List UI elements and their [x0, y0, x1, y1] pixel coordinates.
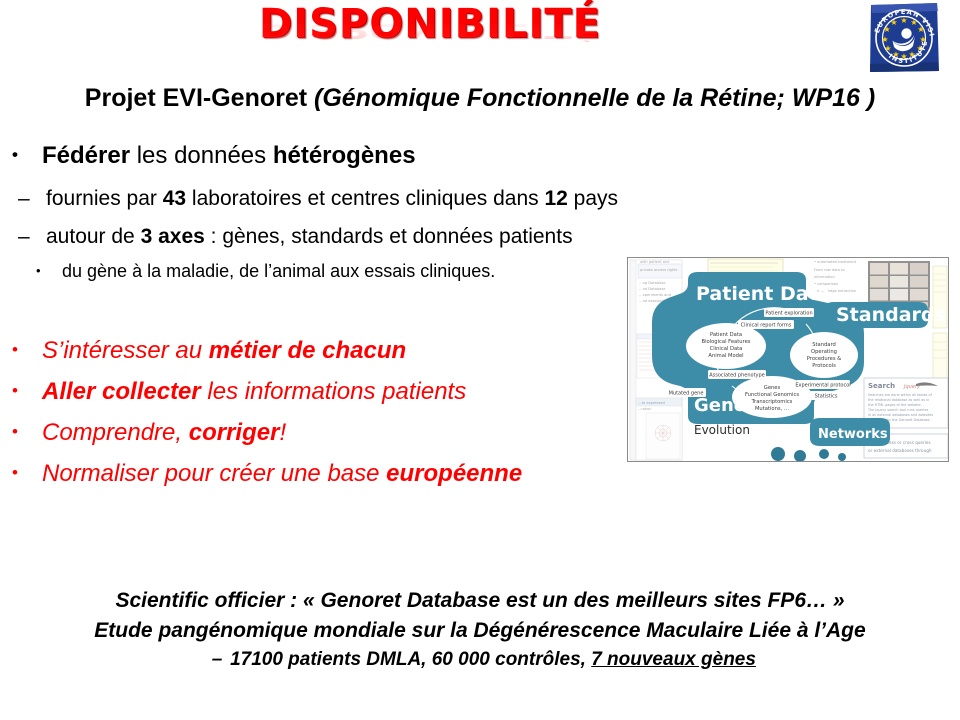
autour-seg2: : gènes, standards et données patients: [205, 225, 573, 248]
red-1-bold: métier de chacun: [209, 337, 406, 364]
svg-text:Functional Genomics: Functional Genomics: [745, 392, 799, 398]
bullet-marker-icon: •: [12, 371, 42, 411]
red-4-bold: européenne: [386, 460, 522, 487]
svg-text:Transcriptomics: Transcriptomics: [751, 399, 793, 405]
bullet-fournies: –fournies par 43 laboratoires et centres…: [18, 186, 618, 212]
svg-text:…ng Database: …ng Database: [639, 281, 666, 285]
dash-marker-icon: –: [18, 224, 46, 250]
svg-text:…te expressed: …te expressed: [638, 401, 665, 405]
footer-line-3-underlined: 7 nouveaux gènes: [591, 649, 756, 670]
bullet-federer-normal: les données: [130, 142, 273, 169]
fournies-seg0: fournies par: [46, 187, 163, 210]
svg-text:★: ★: [884, 44, 891, 53]
red-2-bold: Aller collecter: [42, 378, 201, 405]
bullet-marker-icon: •: [12, 412, 42, 452]
red-3-post: !: [279, 419, 286, 446]
european-vision-institute-logo: ★ ★ ★ ★ ★ ★ ★ ★ ★ ★ ★ ★ EUROPEAN VISION …: [866, 2, 942, 74]
bullet-marker-icon: •: [12, 453, 42, 493]
svg-text:Clinical report forms: Clinical report forms: [741, 323, 792, 329]
svg-text:the relational database as wel: the relational database as well as in: [868, 398, 929, 402]
svg-text:or external databases through: or external databases through: [868, 448, 932, 453]
red-bullet-item-3: •Comprendre, corriger!: [12, 412, 632, 453]
svg-text:private access rights: private access rights: [640, 268, 678, 272]
svg-text:Searches are done within all t: Searches are done within all tables of: [868, 393, 933, 397]
svg-text:• automated treatment: • automated treatment: [814, 260, 857, 264]
svg-text:…nd Database: …nd Database: [639, 287, 666, 291]
dash-marker-icon: –: [18, 186, 46, 212]
bullet-du-gene-text: du gène à la maladie, de l’animal aux es…: [62, 261, 495, 281]
fournies-seg4: pays: [568, 187, 618, 210]
svg-text:Protocols: Protocols: [812, 363, 836, 369]
footer-block: Scientific officier : « Genoret Database…: [0, 586, 960, 674]
svg-text:Patient exploration: Patient exploration: [765, 311, 812, 317]
bullet-federer: •Fédérer les données hétérogènes: [12, 140, 416, 171]
slide-canvas: DISPONIBILITÉ DISPONIBILITÉ ★ ★ ★ ★ ★: [0, 0, 960, 720]
red-3-bold: corriger: [189, 419, 280, 446]
svg-text:Statistics: Statistics: [815, 394, 838, 400]
bullet-marker-icon: •: [12, 330, 42, 370]
footer-line-3-plain: 17100 patients DMLA, 60 000 contrôles,: [230, 649, 591, 670]
svg-text:Patient Data: Patient Data: [710, 332, 742, 338]
bullet-federer-bold1: Fédérer: [42, 142, 130, 169]
red-bullet-list: •S’intéresser au métier de chacun •Aller…: [12, 330, 632, 494]
svg-text:Animal Model: Animal Model: [708, 353, 743, 359]
red-4-pre: Normaliser pour créer une base: [42, 460, 386, 487]
sub-bullet-marker-icon: •: [36, 259, 62, 282]
svg-text:…xperiments and: …xperiments and: [639, 293, 671, 297]
svg-text:★: ★: [881, 35, 888, 44]
svg-text:in all external databases and: in all external databases and websites: [868, 413, 933, 417]
svg-text:Associated phenotype: Associated phenotype: [709, 373, 765, 379]
footer-line-2: Etude pangénomique mondiale sur la Dégén…: [0, 616, 960, 646]
red-3-pre: Comprendre,: [42, 419, 189, 446]
diagram-label-networks: Networks: [818, 427, 888, 442]
svg-text:Clinical Data: Clinical Data: [710, 346, 743, 352]
red-2-post: les informations patients: [201, 378, 466, 405]
svg-text:…ration: …ration: [638, 407, 651, 411]
svg-text:Mutated gene: Mutated gene: [669, 391, 704, 397]
svg-text:★: ★: [917, 25, 924, 34]
footer-line-3: –17100 patients DMLA, 60 000 contrôles, …: [0, 646, 960, 674]
svg-text:The Jquery search tool runs qu: The Jquery search tool runs queries: [867, 408, 928, 412]
svg-text:Genes: Genes: [764, 385, 781, 391]
svg-text:the HTML pages of the website.: the HTML pages of the website.: [868, 403, 922, 407]
bullet-marker-icon: •: [12, 140, 42, 170]
fournies-count-countries: 12: [544, 187, 567, 210]
fournies-count-labs: 43: [163, 187, 186, 210]
svg-text:information: information: [814, 275, 835, 279]
svg-text:Mutations, …: Mutations, …: [755, 406, 789, 412]
bullet-du-gene: •du gène à la maladie, de l’animal aux e…: [36, 259, 495, 283]
autour-axes: 3 axes: [141, 225, 205, 248]
diagram-label-standards: Standards: [836, 304, 946, 326]
svg-text:with patient and: with patient and: [640, 260, 669, 264]
project-subtitle: Projet EVI-Genoret (Génomique Fonctionne…: [0, 83, 960, 113]
svg-text:Operating: Operating: [811, 349, 837, 355]
bullet-federer-bold2: hétérogènes: [273, 142, 416, 169]
svg-text:Standard: Standard: [812, 342, 836, 348]
red-bullet-item-1: •S’intéresser au métier de chacun: [12, 330, 632, 371]
bullet-autour: –autour de 3 axes : gènes, standards et …: [18, 224, 573, 250]
dash-marker-icon: –: [204, 646, 230, 674]
svg-text:Biological Features: Biological Features: [702, 339, 751, 345]
page-title-reflection: DISPONIBILITÉ: [0, 19, 860, 42]
svg-text:Experimental protocol: Experimental protocol: [795, 383, 850, 389]
footer-line-1: Scientific officier : « Genoret Database…: [0, 586, 960, 616]
genoret-architecture-diagram: with patient and private access rights ……: [627, 257, 949, 462]
svg-text:Procedures &: Procedures &: [807, 356, 841, 362]
svg-text:★: ★: [900, 16, 907, 25]
red-1-pre: S’intéresser au: [42, 337, 209, 364]
autour-seg0: autour de: [46, 225, 141, 248]
slide-title-block: DISPONIBILITÉ DISPONIBILITÉ: [0, 2, 860, 86]
project-scope: (Génomique Fonctionnelle de la Rétine; W…: [307, 84, 875, 112]
red-bullet-item-2: •Aller collecter les informations patien…: [12, 371, 632, 412]
red-bullet-item-4: •Normaliser pour créer une base européen…: [12, 453, 632, 494]
fournies-seg2: laboratoires et centres cliniques dans: [186, 187, 544, 210]
diagram-label-evolution: Evolution: [694, 423, 750, 437]
svg-text:From raw data to: From raw data to: [814, 268, 845, 272]
diagram-label-patient-data: Patient Data: [696, 283, 830, 305]
project-name: Projet EVI-Genoret: [85, 84, 307, 112]
svg-text:Search: Search: [868, 382, 895, 390]
